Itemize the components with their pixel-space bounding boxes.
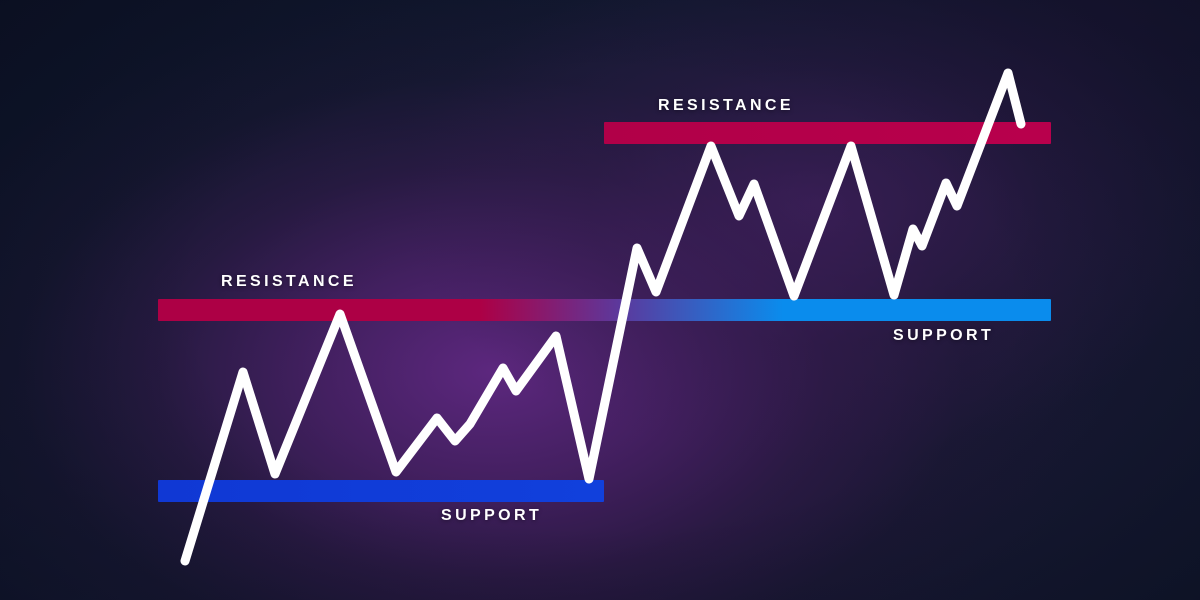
- price-line-chart: [0, 0, 1200, 600]
- chart-canvas: RESISTANCE RESISTANCE SUPPORT SUPPORT: [0, 0, 1200, 600]
- price-line-path: [185, 73, 1021, 561]
